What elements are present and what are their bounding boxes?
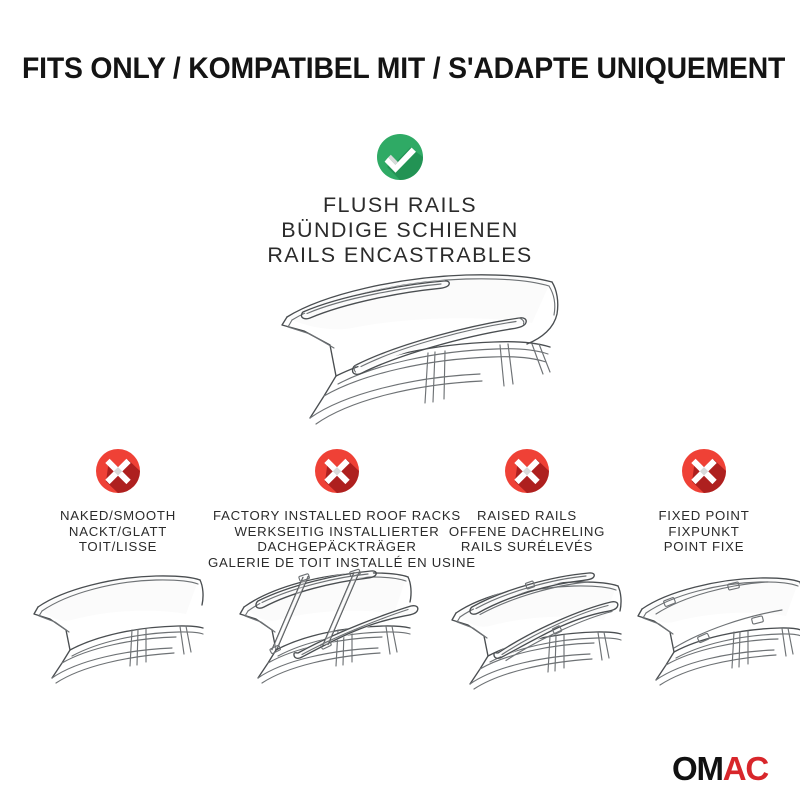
label-line-de: OFFENE DACHRELING <box>432 524 622 540</box>
label-line-fr: TOIT/LISSE <box>10 539 226 555</box>
brand-logo-dark: OM <box>672 750 723 787</box>
approved-roof-illustration <box>232 268 582 433</box>
raised-rails-illustration <box>422 556 622 691</box>
rejected-option-label: NAKED/SMOOTH NACKT/GLATT TOIT/LISSE <box>10 508 226 555</box>
rejected-option-raised-rails: RAISED RAILS OFFENE DACHRELING RAILS SUR… <box>432 448 622 555</box>
rejected-option-label: FIXED POINT FIXPUNKT POINT FIXE <box>612 508 796 555</box>
label-line-en: NAKED/SMOOTH <box>10 508 226 524</box>
fixed-point-illustration <box>612 556 800 691</box>
label-line-de: NACKT/GLATT <box>10 524 226 540</box>
label-line-en: FACTORY INSTALLED ROOF RACKS <box>208 508 466 524</box>
x-circle-icon <box>208 448 466 499</box>
label-line-de: FIXPUNKT <box>612 524 796 540</box>
approved-option-label: FLUSH RAILS BÜNDIGE SCHIENEN RAILS ENCAS… <box>0 193 800 268</box>
approved-label-line-en: FLUSH RAILS <box>0 193 800 218</box>
label-line-de-1: WERKSEITIG INSTALLIERTER <box>208 524 466 540</box>
naked-smooth-roof-illustration <box>4 556 204 691</box>
label-line-fr: RAILS SURÉLEVÉS <box>432 539 622 555</box>
approved-label-line-fr: RAILS ENCASTRABLES <box>0 243 800 268</box>
rejected-option-naked-smooth: NAKED/SMOOTH NACKT/GLATT TOIT/LISSE <box>10 448 226 555</box>
label-line-en: RAISED RAILS <box>432 508 622 524</box>
approved-option: FLUSH RAILS BÜNDIGE SCHIENEN RAILS ENCAS… <box>0 133 800 268</box>
approved-label-line-de: BÜNDIGE SCHIENEN <box>0 218 800 243</box>
x-circle-icon <box>10 448 226 499</box>
x-circle-icon <box>432 448 622 499</box>
factory-roof-racks-illustration <box>202 546 422 691</box>
label-line-fr: POINT FIXE <box>612 539 796 555</box>
check-circle-icon <box>0 133 800 186</box>
brand-logo: OMAC <box>672 752 768 785</box>
brand-logo-accent: AC <box>723 750 768 787</box>
label-line-en: FIXED POINT <box>612 508 796 524</box>
page-title: FITS ONLY / KOMPATIBEL MIT / S'ADAPTE UN… <box>22 52 778 86</box>
x-circle-icon <box>612 448 796 499</box>
rejected-option-fixed-point: FIXED POINT FIXPUNKT POINT FIXE <box>612 448 796 555</box>
rejected-option-label: RAISED RAILS OFFENE DACHRELING RAILS SUR… <box>432 508 622 555</box>
